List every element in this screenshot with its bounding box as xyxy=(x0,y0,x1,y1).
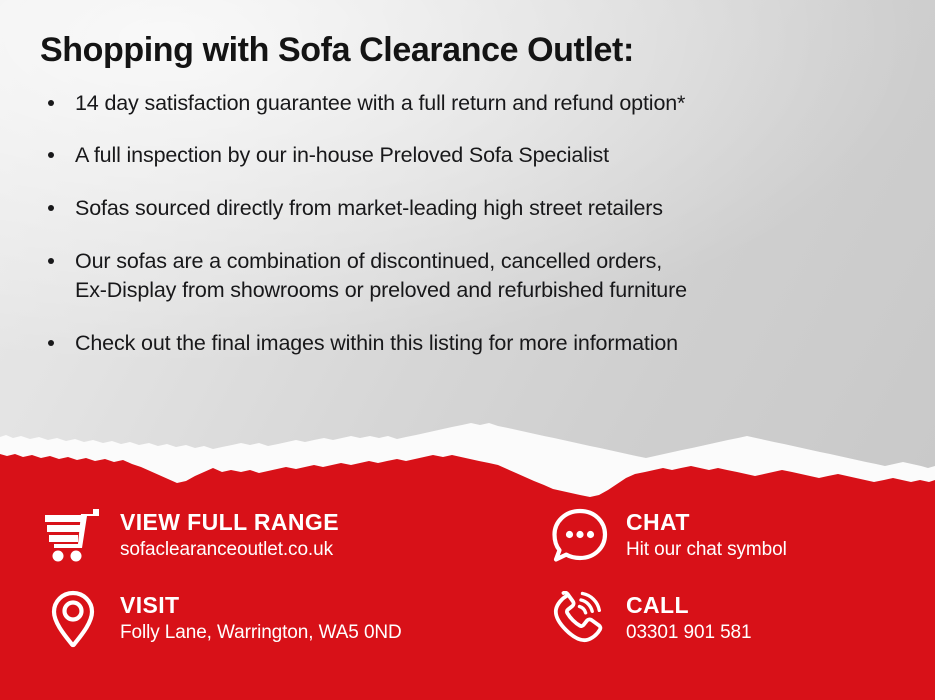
contact-subtitle: 03301 901 581 xyxy=(626,622,752,645)
bullet-dot-icon xyxy=(48,340,54,346)
list-item: 14 day satisfaction guarantee with a ful… xyxy=(40,89,900,119)
contact-subtitle: Hit our chat symbol xyxy=(626,539,787,562)
contact-chat[interactable]: CHAT Hit our chat symbol xyxy=(548,505,787,567)
list-item: Our sofas are a combination of discontin… xyxy=(40,247,900,306)
bullet-dot-icon xyxy=(48,258,54,264)
list-item-label: A full inspection by our in-house Prelov… xyxy=(75,143,609,167)
list-item: Check out the final images within this l… xyxy=(40,329,900,359)
contact-text-group: CALL 03301 901 581 xyxy=(626,593,752,645)
contact-text-group: VIEW FULL RANGE sofaclearanceoutlet.co.u… xyxy=(120,510,339,562)
list-item: Sofas sourced directly from market-leadi… xyxy=(40,194,900,224)
contact-subtitle: Folly Lane, Warrington, WA5 0ND xyxy=(120,622,402,645)
benefits-list: 14 day satisfaction guarantee with a ful… xyxy=(40,89,900,359)
chat-bubble-icon xyxy=(548,505,610,567)
contact-call[interactable]: CALL 03301 901 581 xyxy=(548,588,752,650)
shopping-cart-icon xyxy=(42,505,104,567)
info-panel-content: Shopping with Sofa Clearance Outlet: 14 … xyxy=(40,30,900,359)
contact-title: CALL xyxy=(626,592,689,618)
bullet-dot-icon xyxy=(48,205,54,211)
phone-call-icon xyxy=(548,588,610,650)
list-item-label-line2: Ex-Display from showrooms or preloved an… xyxy=(75,278,687,302)
list-item-label: 14 day satisfaction guarantee with a ful… xyxy=(75,91,685,115)
list-item: A full inspection by our in-house Prelov… xyxy=(40,141,900,171)
contact-text-group: CHAT Hit our chat symbol xyxy=(626,510,787,562)
promo-poster: Shopping with Sofa Clearance Outlet: 14 … xyxy=(0,0,935,700)
contact-title: CHAT xyxy=(626,509,690,535)
location-pin-icon xyxy=(42,588,104,650)
contact-title: VIEW FULL RANGE xyxy=(120,509,339,535)
list-item-label: Sofas sourced directly from market-leadi… xyxy=(75,196,663,220)
list-item-label: Check out the final images within this l… xyxy=(75,331,678,355)
list-item-label-line1: Our sofas are a combination of discontin… xyxy=(75,249,662,273)
info-panel: Shopping with Sofa Clearance Outlet: 14 … xyxy=(0,0,935,470)
contact-subtitle: sofaclearanceoutlet.co.uk xyxy=(120,539,339,562)
contact-text-group: VISIT Folly Lane, Warrington, WA5 0ND xyxy=(120,593,402,645)
bullet-dot-icon xyxy=(48,152,54,158)
contact-view-full-range[interactable]: VIEW FULL RANGE sofaclearanceoutlet.co.u… xyxy=(42,505,339,567)
bullet-dot-icon xyxy=(48,100,54,106)
page-title: Shopping with Sofa Clearance Outlet: xyxy=(40,30,900,71)
contact-visit[interactable]: VISIT Folly Lane, Warrington, WA5 0ND xyxy=(42,588,402,650)
contact-title: VISIT xyxy=(120,592,180,618)
